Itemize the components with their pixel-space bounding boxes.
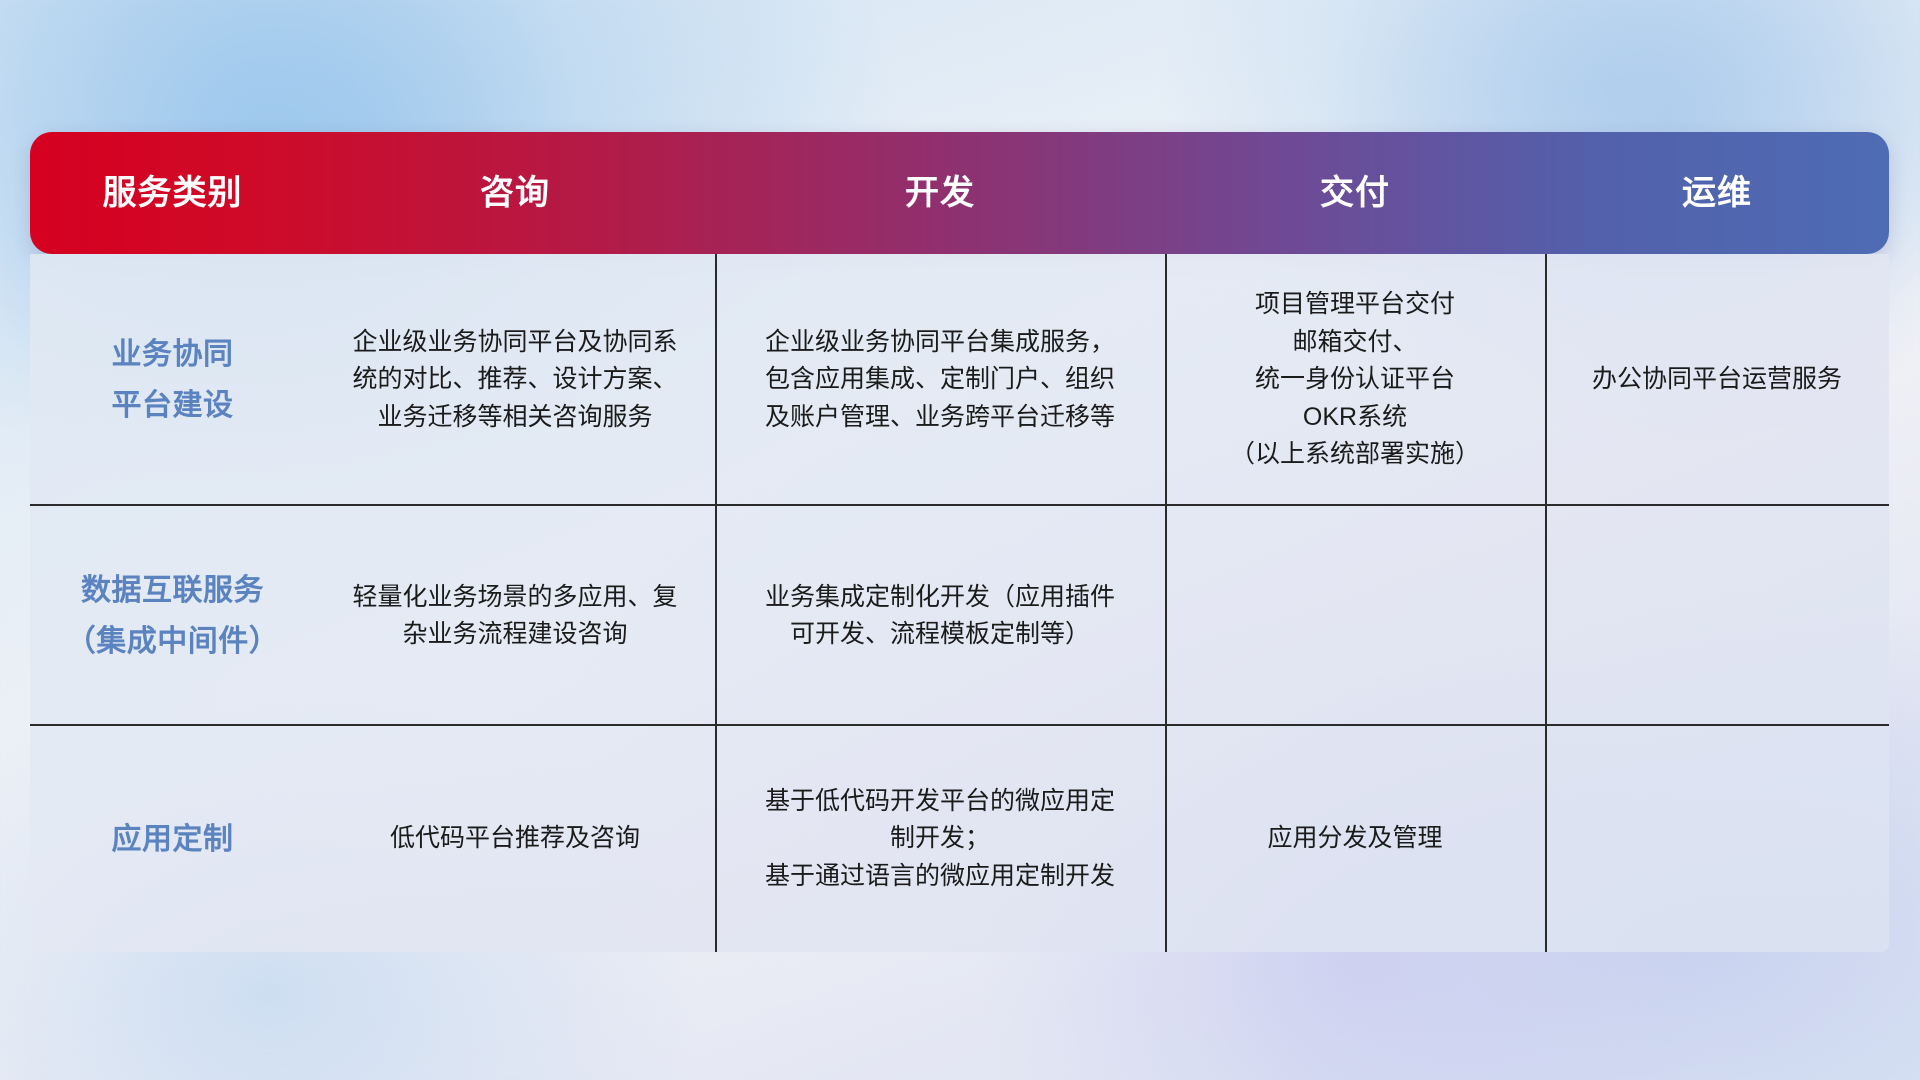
category-label: 业务协同 平台建设 bbox=[112, 329, 234, 431]
service-category-table: 服务类别 咨询 开发 交付 运维 业务协同 平台建设 企业级业务协同平台及协同系… bbox=[30, 132, 1889, 952]
cell-text: 低代码平台推荐及咨询 bbox=[390, 820, 640, 858]
table-row: 应用定制 低代码平台推荐及咨询 基于低代码开发平台的微应用定 制开发； 基于通过… bbox=[30, 726, 1889, 952]
table-header-row: 服务类别 咨询 开发 交付 运维 bbox=[30, 132, 1889, 254]
cell-development: 企业级业务协同平台集成服务， 包含应用集成、定制门户、组织 及账户管理、业务跨平… bbox=[715, 254, 1165, 506]
cell-text: 企业级业务协同平台集成服务， 包含应用集成、定制门户、组织 及账户管理、业务跨平… bbox=[765, 324, 1115, 437]
cell-text: 办公协同平台运营服务 bbox=[1592, 361, 1842, 399]
cell-delivery: 项目管理平台交付 邮箱交付、 统一身份认证平台 OKR系统 （以上系统部署实施） bbox=[1165, 254, 1545, 506]
cell-development: 基于低代码开发平台的微应用定 制开发； 基于通过语言的微应用定制开发 bbox=[715, 726, 1165, 952]
cell-operations bbox=[1545, 506, 1889, 726]
cell-text: 业务集成定制化开发（应用插件 可开发、流程模板定制等） bbox=[765, 579, 1115, 654]
cell-text: 轻量化业务场景的多应用、复 杂业务流程建设咨询 bbox=[352, 579, 677, 654]
cell-consulting: 企业级业务协同平台及协同系 统的对比、推荐、设计方案、 业务迁移等相关咨询服务 bbox=[315, 254, 715, 506]
cell-category: 数据互联服务 （集成中间件） bbox=[30, 506, 315, 726]
cell-operations bbox=[1545, 726, 1889, 952]
column-header-category: 服务类别 bbox=[30, 173, 315, 214]
table-row: 业务协同 平台建设 企业级业务协同平台及协同系 统的对比、推荐、设计方案、 业务… bbox=[30, 254, 1889, 506]
cell-category: 业务协同 平台建设 bbox=[30, 254, 315, 506]
table-body: 业务协同 平台建设 企业级业务协同平台及协同系 统的对比、推荐、设计方案、 业务… bbox=[30, 254, 1889, 952]
cell-delivery: 应用分发及管理 bbox=[1165, 726, 1545, 952]
column-header-development: 开发 bbox=[715, 173, 1165, 214]
column-header-delivery: 交付 bbox=[1165, 173, 1545, 214]
cell-operations: 办公协同平台运营服务 bbox=[1545, 254, 1889, 506]
cell-development: 业务集成定制化开发（应用插件 可开发、流程模板定制等） bbox=[715, 506, 1165, 726]
cell-text: 项目管理平台交付 邮箱交付、 统一身份认证平台 OKR系统 （以上系统部署实施） bbox=[1230, 286, 1480, 474]
table-row: 数据互联服务 （集成中间件） 轻量化业务场景的多应用、复 杂业务流程建设咨询 业… bbox=[30, 506, 1889, 726]
column-header-consulting: 咨询 bbox=[315, 173, 715, 214]
cell-text: 应用分发及管理 bbox=[1267, 820, 1442, 858]
category-label: 数据互联服务 （集成中间件） bbox=[66, 565, 280, 667]
cell-category: 应用定制 bbox=[30, 726, 315, 952]
cell-text: 基于低代码开发平台的微应用定 制开发； 基于通过语言的微应用定制开发 bbox=[765, 783, 1115, 896]
column-header-operations: 运维 bbox=[1545, 173, 1889, 214]
category-label: 应用定制 bbox=[112, 814, 234, 865]
cell-delivery bbox=[1165, 506, 1545, 726]
cell-consulting: 轻量化业务场景的多应用、复 杂业务流程建设咨询 bbox=[315, 506, 715, 726]
cell-text: 企业级业务协同平台及协同系 统的对比、推荐、设计方案、 业务迁移等相关咨询服务 bbox=[352, 324, 677, 437]
cell-consulting: 低代码平台推荐及咨询 bbox=[315, 726, 715, 952]
